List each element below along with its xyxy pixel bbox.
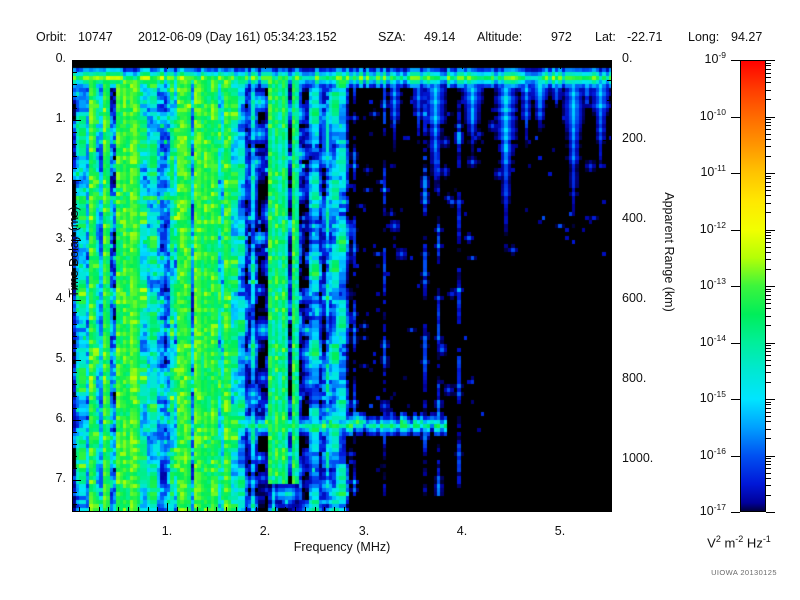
axis-tick (603, 220, 612, 221)
colorbar-minor-tick (766, 77, 771, 78)
axis-tick (603, 460, 612, 461)
colorbar-minor-tick (766, 461, 771, 462)
axis-tick (540, 507, 541, 512)
colorbar-minor-tick (766, 365, 771, 366)
axis-tick (607, 200, 612, 201)
axis-tick (256, 507, 257, 512)
y-ticklabel-6: 6. (26, 411, 66, 425)
axis-tick (607, 180, 612, 181)
axis-tick (481, 60, 482, 65)
axis-tick (442, 60, 443, 65)
axis-tick (79, 60, 80, 65)
axis-tick (285, 60, 286, 65)
axis-tick (197, 507, 198, 512)
axis-tick (72, 132, 77, 133)
axis-tick (354, 60, 355, 65)
colorbar-minor-tick (766, 65, 771, 66)
colorbar-minor-tick (766, 156, 771, 157)
colorbar-minor-tick (766, 404, 771, 405)
axis-tick (603, 140, 612, 141)
orbit-label: Orbit: (36, 30, 67, 44)
colorbar-minor-tick (766, 308, 771, 309)
axis-tick (462, 60, 463, 69)
colorbar-major-tick (731, 230, 740, 231)
axis-tick (157, 507, 158, 512)
colorbar-minor-tick (766, 295, 771, 296)
axis-tick (393, 507, 394, 512)
axis-tick (72, 480, 81, 481)
axis-tick (521, 60, 522, 65)
datetime-value: 2012-06-09 (Day 161) 05:34:23.152 (138, 30, 337, 44)
axis-tick (603, 60, 612, 61)
axis-tick (89, 60, 90, 65)
axis-tick (72, 432, 77, 433)
axis-tick (89, 507, 90, 512)
axis-tick (373, 60, 374, 65)
axis-tick (607, 360, 612, 361)
colorbar-minor-tick (766, 372, 771, 373)
axis-tick (72, 372, 77, 373)
colorbar-minor-tick (766, 291, 771, 292)
axis-tick (540, 60, 541, 65)
axis-tick (99, 60, 100, 65)
axis-tick (285, 507, 286, 512)
colorbar-minor-tick (766, 139, 771, 140)
credit-label: UIOWA 20130125 (690, 568, 798, 577)
axis-tick (413, 60, 414, 65)
axis-tick (216, 507, 217, 512)
x-ticklabel-3: 4. (437, 524, 487, 538)
axis-tick (167, 60, 168, 69)
axis-tick (607, 340, 612, 341)
axis-tick (236, 60, 237, 65)
axis-tick (432, 507, 433, 512)
axis-tick (72, 156, 77, 157)
axis-tick (607, 420, 612, 421)
axis-tick (607, 400, 612, 401)
axis-tick (275, 507, 276, 512)
colorbar-minor-tick (766, 458, 771, 459)
colorbar-minor-tick (766, 195, 771, 196)
x-ticklabel-4: 5. (535, 524, 585, 538)
colorbar-gradient (740, 60, 766, 512)
axis-tick (501, 507, 502, 512)
axis-tick (607, 100, 612, 101)
y2-axis-title: Apparent Range (km) (662, 157, 676, 347)
colorbar-minor-tick (766, 402, 771, 403)
colorbar-minor-tick (766, 468, 771, 469)
axis-tick (72, 144, 77, 145)
axis-tick (607, 280, 612, 281)
axis-tick (72, 336, 77, 337)
colorbar-minor-tick (766, 73, 771, 74)
axis-tick (246, 507, 247, 512)
ionogram-figure: Orbit: 10747 2012-06-09 (Day 161) 05:34:… (0, 0, 800, 600)
axis-tick (236, 507, 237, 512)
axis-tick (72, 348, 77, 349)
axis-tick (570, 60, 571, 65)
colorbar-ticklabel-5: 10-14 (650, 333, 726, 349)
colorbar-ticklabel-6: 10-15 (650, 389, 726, 405)
axis-tick (226, 507, 227, 512)
axis-tick (531, 507, 532, 512)
axis-tick (334, 507, 335, 512)
colorbar-major-tick (766, 60, 775, 61)
axis-tick (344, 507, 345, 512)
axis-tick (207, 507, 208, 512)
axis-tick (295, 507, 296, 512)
colorbar-minor-tick (766, 125, 771, 126)
colorbar-minor-tick (766, 119, 771, 120)
axis-tick (118, 60, 119, 65)
altitude-value: 972 (551, 30, 572, 44)
axis-tick (72, 456, 77, 457)
axis-tick (607, 160, 612, 161)
colorbar-minor-tick (766, 69, 771, 70)
axis-tick (589, 60, 590, 65)
axis-tick (599, 507, 600, 512)
axis-tick (607, 120, 612, 121)
colorbar-minor-tick (766, 303, 771, 304)
axis-tick (607, 440, 612, 441)
axis-tick (560, 503, 561, 512)
colorbar-major-tick (766, 117, 775, 118)
axis-tick (354, 507, 355, 512)
axis-tick (99, 507, 100, 512)
altitude-label: Altitude: (477, 30, 522, 44)
colorbar-minor-tick (766, 438, 771, 439)
colorbar-major-tick (731, 512, 740, 513)
axis-tick (256, 60, 257, 65)
colorbar-major-tick (766, 173, 775, 174)
orbit-value: 10747 (78, 30, 113, 44)
latitude-label: Lat: (595, 30, 616, 44)
axis-tick (324, 60, 325, 65)
axis-tick (344, 60, 345, 65)
axis-tick (72, 84, 77, 85)
colorbar-minor-tick (766, 382, 771, 383)
axis-tick (305, 507, 306, 512)
axis-tick (72, 360, 81, 361)
axis-tick (72, 120, 81, 121)
colorbar-minor-tick (766, 269, 771, 270)
colorbar-minor-tick (766, 129, 771, 130)
colorbar-minor-tick (766, 90, 771, 91)
axis-tick (580, 60, 581, 65)
colorbar-minor-tick (766, 485, 771, 486)
sza-label: SZA: (378, 30, 406, 44)
x-ticklabel-2: 3. (339, 524, 389, 538)
axis-tick (72, 384, 77, 385)
colorbar-minor-tick (766, 478, 771, 479)
axis-tick (607, 320, 612, 321)
y-ticklabel-1: 1. (26, 111, 66, 125)
colorbar-minor-tick (766, 178, 771, 179)
colorbar-units-label: V2 m-2 Hz-1 (680, 534, 798, 550)
axis-tick (550, 60, 551, 65)
ionogram-plot-area (72, 60, 612, 512)
x-axis-title: Frequency (MHz) (72, 540, 612, 554)
colorbar-minor-tick (766, 348, 771, 349)
axis-tick (609, 60, 610, 65)
axis-tick (373, 507, 374, 512)
y-ticklabel-4: 4. (26, 291, 66, 305)
colorbar-minor-tick (766, 134, 771, 135)
axis-tick (216, 60, 217, 65)
y-axis-title: Time Delay (ms) (67, 172, 81, 332)
colorbar-minor-tick (766, 473, 771, 474)
colorbar-ticklabel-7: 10-16 (650, 446, 726, 462)
axis-tick (452, 507, 453, 512)
axis-tick (609, 507, 610, 512)
colorbar-minor-tick (766, 316, 771, 317)
axis-tick (403, 60, 404, 65)
colorbar-minor-tick (766, 416, 771, 417)
colorbar-minor-tick (766, 176, 771, 177)
axis-tick (246, 60, 247, 65)
axis-tick (315, 507, 316, 512)
colorbar-ticklabel-8: 10-17 (650, 502, 726, 518)
colorbar-minor-tick (766, 232, 771, 233)
axis-tick (531, 60, 532, 65)
axis-tick (72, 468, 77, 469)
colorbar-major-tick (731, 286, 740, 287)
axis-tick (108, 60, 109, 65)
colorbar-major-tick (766, 512, 775, 513)
axis-tick (167, 503, 168, 512)
axis-tick (187, 60, 188, 65)
axis-tick (157, 60, 158, 65)
colorbar-minor-tick (766, 429, 771, 430)
colorbar-minor-tick (766, 247, 771, 248)
colorbar-minor-tick (766, 190, 771, 191)
axis-tick (603, 380, 612, 381)
axis-tick (177, 507, 178, 512)
colorbar-major-tick (766, 230, 775, 231)
colorbar-minor-tick (766, 345, 771, 346)
colorbar-major-tick (766, 286, 775, 287)
axis-tick (128, 60, 129, 65)
colorbar-major-tick (766, 456, 775, 457)
axis-tick (432, 60, 433, 65)
axis-tick (403, 507, 404, 512)
axis-tick (79, 507, 80, 512)
colorbar-minor-tick (766, 242, 771, 243)
axis-tick (491, 507, 492, 512)
sza-value: 49.14 (424, 30, 455, 44)
axis-tick (265, 503, 266, 512)
colorbar-minor-tick (766, 235, 771, 236)
axis-tick (607, 80, 612, 81)
header-metadata-line: Orbit: 10747 2012-06-09 (Day 161) 05:34:… (0, 30, 800, 48)
colorbar-minor-tick (766, 186, 771, 187)
axis-tick (72, 444, 77, 445)
axis-tick (118, 507, 119, 512)
colorbar-major-tick (731, 343, 740, 344)
colorbar-ticklabel-4: 10-13 (650, 276, 726, 292)
axis-tick (364, 503, 365, 512)
y2-ticklabel-4: 800. (622, 371, 682, 385)
axis-tick (72, 504, 77, 505)
axis-tick (265, 60, 266, 69)
axis-tick (138, 60, 139, 65)
axis-tick (324, 507, 325, 512)
axis-tick (108, 507, 109, 512)
axis-tick (607, 500, 612, 501)
axis-tick (72, 396, 77, 397)
axis-tick (72, 492, 77, 493)
colorbar-major-tick (731, 399, 740, 400)
axis-tick (72, 420, 81, 421)
axis-tick (607, 480, 612, 481)
axis-tick (226, 60, 227, 65)
axis-tick (72, 168, 77, 169)
colorbar-major-tick (766, 399, 775, 400)
axis-tick (148, 507, 149, 512)
axis-tick (607, 260, 612, 261)
x-ticklabel-0: 1. (142, 524, 192, 538)
axis-tick (275, 60, 276, 65)
colorbar-minor-tick (766, 252, 771, 253)
colorbar-minor-tick (766, 412, 771, 413)
colorbar-minor-tick (766, 299, 771, 300)
axis-tick (491, 60, 492, 65)
axis-tick (472, 507, 473, 512)
axis-tick (187, 507, 188, 512)
axis-tick (177, 60, 178, 65)
axis-tick (72, 96, 77, 97)
colorbar-minor-tick (766, 122, 771, 123)
axis-tick (383, 60, 384, 65)
colorbar-minor-tick (766, 99, 771, 100)
y-ticklabel-5: 5. (26, 351, 66, 365)
axis-tick (72, 408, 77, 409)
axis-tick (452, 60, 453, 65)
axis-tick (315, 60, 316, 65)
axis-tick (72, 108, 77, 109)
axis-tick (138, 507, 139, 512)
latitude-value: -22.71 (627, 30, 662, 44)
colorbar-minor-tick (766, 464, 771, 465)
axis-tick (607, 240, 612, 241)
axis-tick (383, 507, 384, 512)
axis-tick (128, 507, 129, 512)
colorbar-ticklabel-1: 10-10 (650, 107, 726, 123)
colorbar-major-tick (731, 117, 740, 118)
axis-tick (511, 60, 512, 65)
y-ticklabel-0: 0. (26, 51, 66, 65)
colorbar-minor-tick (766, 360, 771, 361)
colorbar-minor-tick (766, 355, 771, 356)
axis-tick (560, 60, 561, 69)
longitude-label: Long: (688, 30, 719, 44)
axis-tick (207, 60, 208, 65)
axis-tick (393, 60, 394, 65)
axis-tick (197, 60, 198, 65)
axis-tick (599, 60, 600, 65)
axis-tick (305, 60, 306, 65)
axis-tick (603, 300, 612, 301)
y-ticklabel-7: 7. (26, 471, 66, 485)
axis-tick (462, 503, 463, 512)
axis-tick (511, 507, 512, 512)
colorbar-major-tick (731, 173, 740, 174)
x-ticklabel-1: 2. (240, 524, 290, 538)
colorbar-minor-tick (766, 203, 771, 204)
colorbar-minor-tick (766, 325, 771, 326)
colorbar-ticklabel-0: 10-9 (650, 50, 726, 66)
colorbar-ticklabel-2: 10-11 (650, 163, 726, 179)
colorbar-minor-tick (766, 259, 771, 260)
axis-tick (589, 507, 590, 512)
colorbar-major-tick (766, 343, 775, 344)
colorbar-major-tick (731, 456, 740, 457)
colorbar-minor-tick (766, 421, 771, 422)
axis-tick (481, 507, 482, 512)
colorbar-minor-tick (766, 289, 771, 290)
colorbar-minor-tick (766, 408, 771, 409)
heatmap-canvas (72, 60, 612, 512)
longitude-value: 94.27 (731, 30, 762, 44)
axis-tick (295, 60, 296, 65)
axis-tick (364, 60, 365, 69)
colorbar-minor-tick (766, 63, 771, 64)
axis-tick (413, 507, 414, 512)
y2-ticklabel-1: 200. (622, 131, 682, 145)
y-ticklabel-2: 2. (26, 171, 66, 185)
colorbar-minor-tick (766, 146, 771, 147)
axis-tick (148, 60, 149, 65)
axis-tick (334, 60, 335, 65)
axis-tick (550, 507, 551, 512)
axis-tick (472, 60, 473, 65)
axis-tick (501, 60, 502, 65)
axis-tick (423, 507, 424, 512)
colorbar-major-tick (731, 60, 740, 61)
axis-tick (570, 507, 571, 512)
axis-tick (580, 507, 581, 512)
colorbar (740, 60, 766, 512)
colorbar-minor-tick (766, 82, 771, 83)
colorbar-minor-tick (766, 238, 771, 239)
colorbar-minor-tick (766, 212, 771, 213)
colorbar-minor-tick (766, 182, 771, 183)
axis-tick (521, 507, 522, 512)
axis-tick (423, 60, 424, 65)
axis-tick (442, 507, 443, 512)
y-ticklabel-3: 3. (26, 231, 66, 245)
colorbar-ticklabel-3: 10-12 (650, 220, 726, 236)
axis-tick (72, 72, 77, 73)
colorbar-minor-tick (766, 351, 771, 352)
colorbar-minor-tick (766, 495, 771, 496)
